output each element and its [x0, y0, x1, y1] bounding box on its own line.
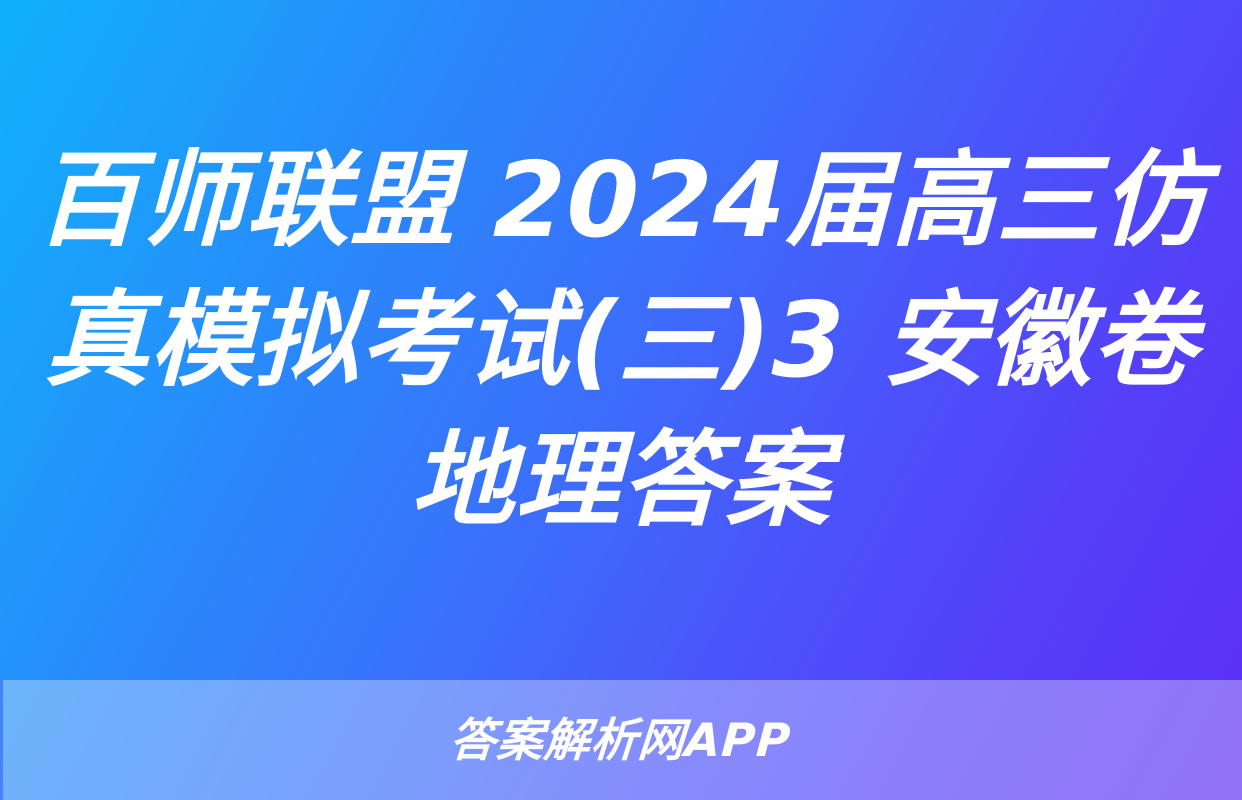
watermark-label: 答案解析网APP: [449, 712, 794, 768]
title-block: 百师联盟 2024届高三仿 真模拟考试(三)3 安徽卷 地理答案: [0, 0, 1242, 680]
band-left-edge-accent: [0, 680, 3, 800]
title-line-3: 地理答案: [410, 410, 832, 550]
title-line-2: 真模拟考试(三)3 安徽卷: [43, 270, 1198, 410]
watermark-band: 答案解析网APP: [0, 680, 1242, 800]
poster-canvas: 百师联盟 2024届高三仿 真模拟考试(三)3 安徽卷 地理答案 答案解析网AP…: [0, 0, 1242, 800]
title-line-1: 百师联盟 2024届高三仿: [34, 130, 1207, 270]
